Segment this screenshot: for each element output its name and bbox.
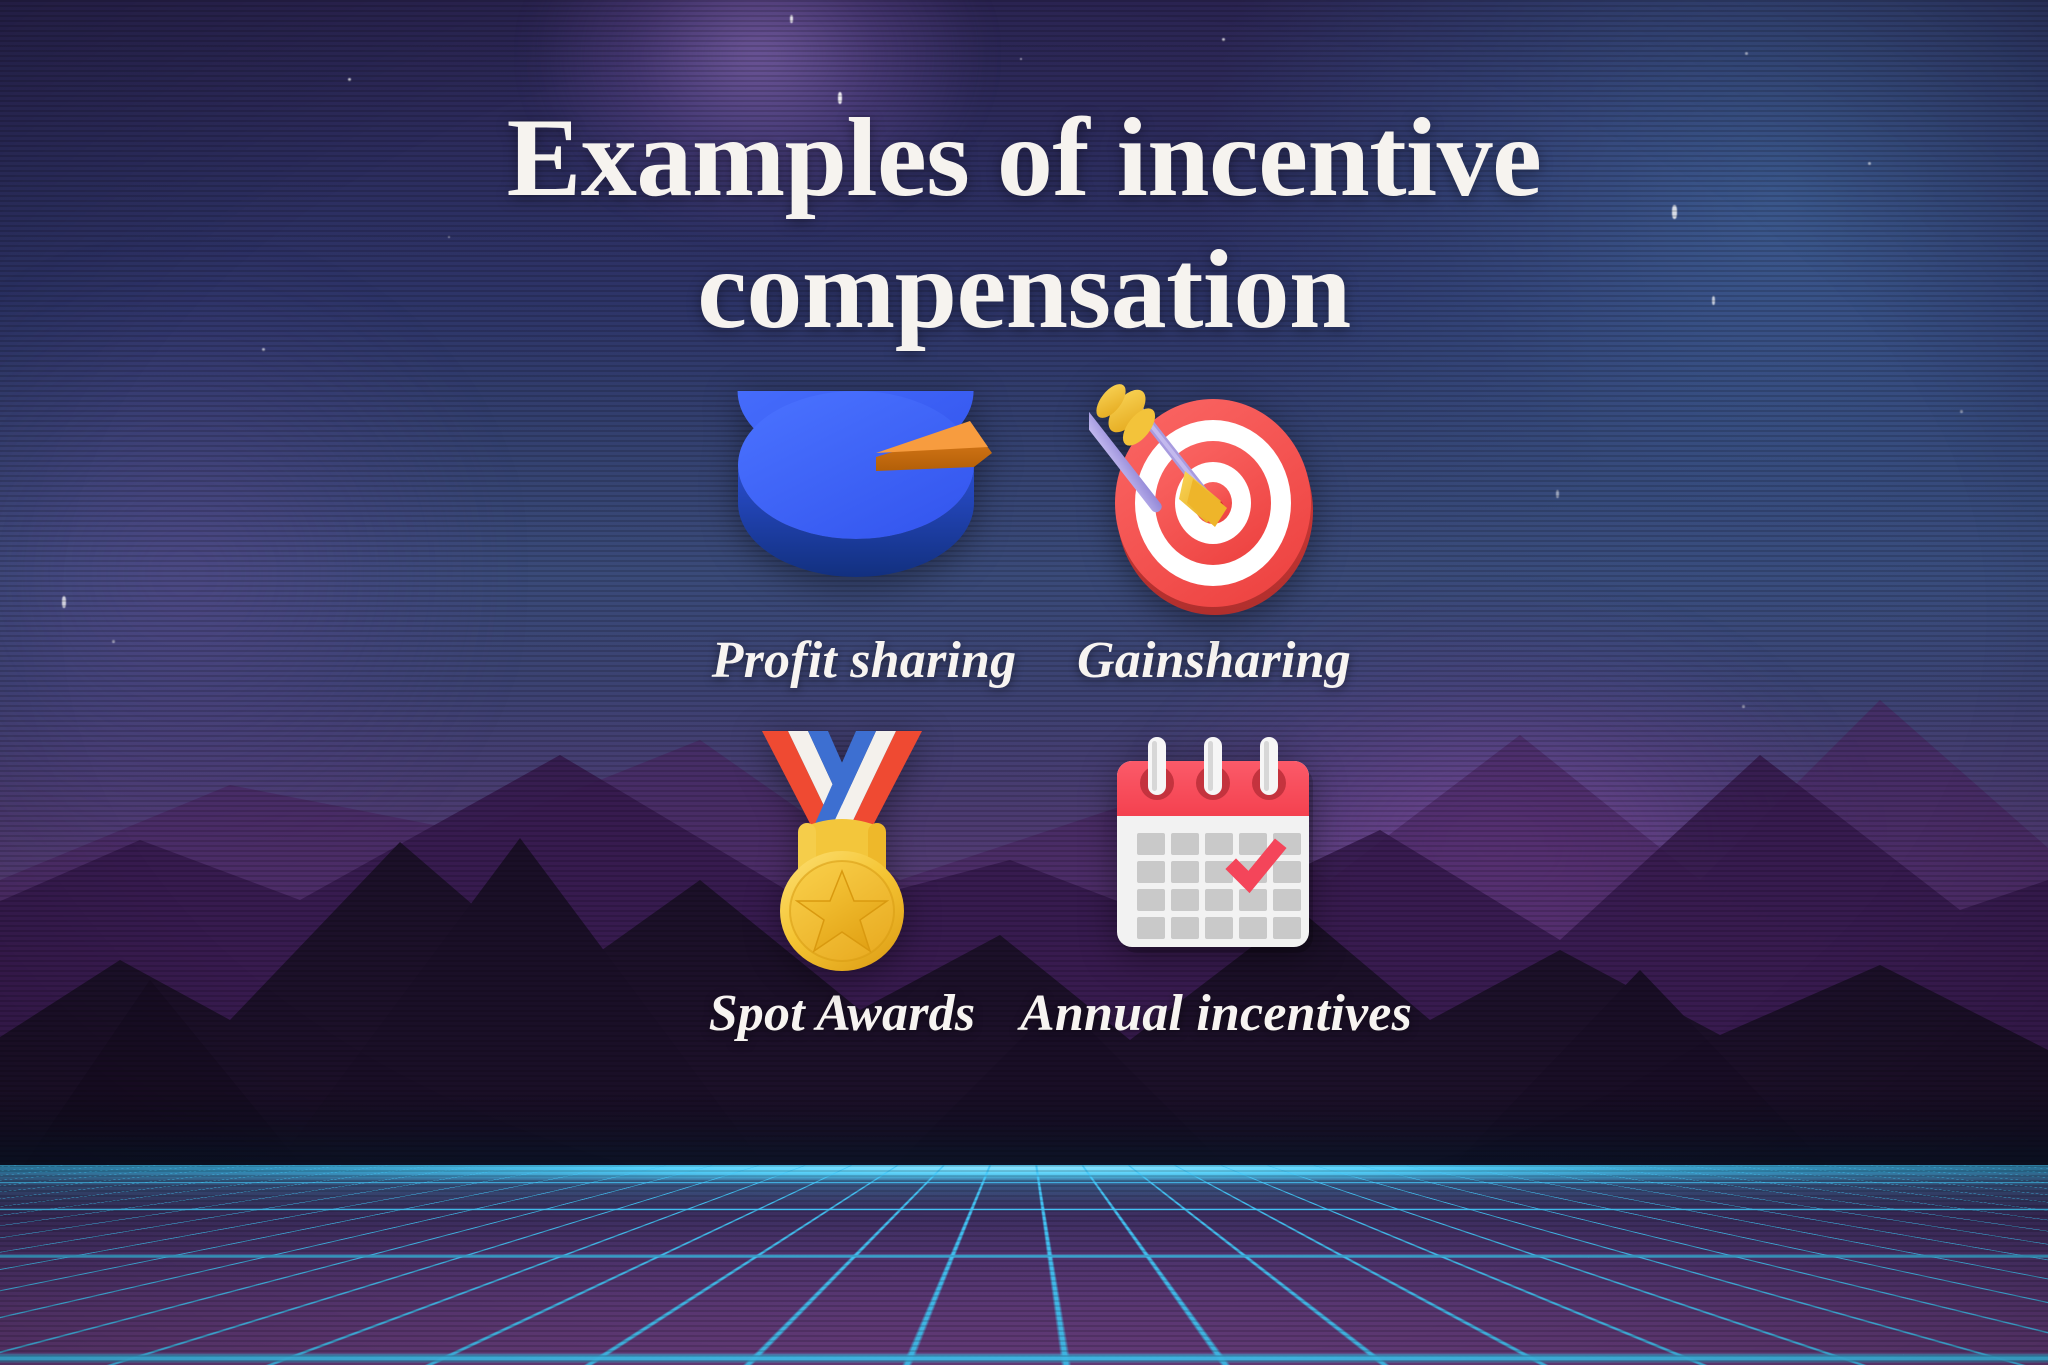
title-line-2: compensation xyxy=(434,224,1614,356)
example-label-profit-sharing: Profit sharing xyxy=(712,631,1017,690)
example-item-annual-incentives[interactable]: Annual incentives xyxy=(1001,718,1431,1043)
calendar-check-icon xyxy=(1095,718,1337,978)
gold-medal-icon xyxy=(732,718,952,978)
incentive-examples-grid: Profit sharing xyxy=(574,375,1474,1043)
example-label-annual-incentives: Annual incentives xyxy=(1020,984,1412,1043)
examples-row-1: Profit sharing xyxy=(574,375,1474,690)
example-label-spot-awards: Spot Awards xyxy=(709,984,976,1043)
pie-chart-3d-icon xyxy=(730,375,998,625)
example-item-gainsharing[interactable]: Gainsharing xyxy=(999,375,1429,690)
example-label-gainsharing: Gainsharing xyxy=(1077,631,1351,690)
page-title: Examples of incentive compensation xyxy=(434,92,1614,356)
target-dart-icon xyxy=(1089,375,1339,625)
title-line-1: Examples of incentive xyxy=(434,92,1614,224)
examples-row-2: Spot Awards xyxy=(574,718,1474,1043)
example-item-spot-awards[interactable]: Spot Awards xyxy=(627,718,1057,1043)
slide-canvas: Examples of incentive compensation xyxy=(0,0,2048,1365)
slide-content: Examples of incentive compensation xyxy=(0,0,2048,1365)
